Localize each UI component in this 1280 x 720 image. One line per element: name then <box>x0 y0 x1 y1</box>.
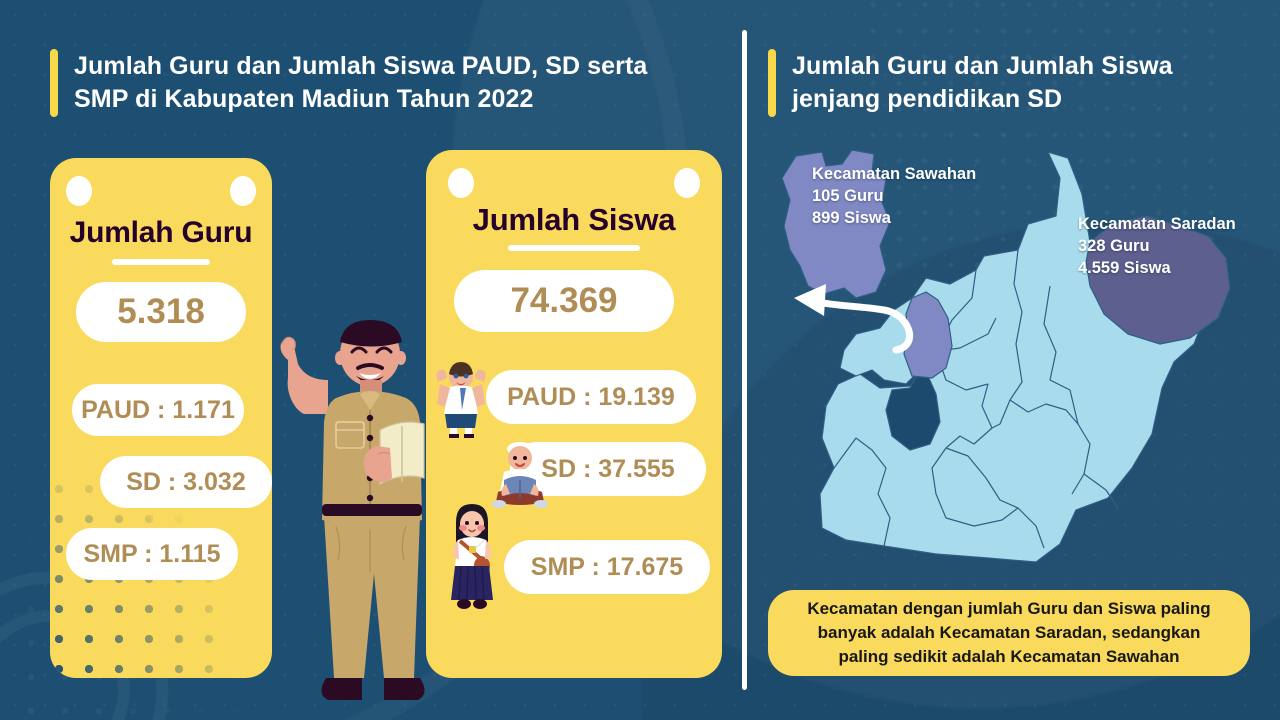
card-title-jumlah-guru: Jumlah Guru <box>50 216 272 250</box>
summary-caption-box: Kecamatan dengan jumlah Guru dan Siswa p… <box>768 590 1250 676</box>
guru-paud-pill: PAUD : 1.171 <box>72 384 244 436</box>
guru-sd-pill: SD : 3.032 <box>100 456 272 508</box>
heading-accent-bar <box>768 49 776 117</box>
siswa-paud-pill: PAUD : 19.139 <box>486 370 696 424</box>
card-punch-hole-right <box>230 176 256 206</box>
right-heading-text: Jumlah Guru dan Jumlah Siswa jenjang pen… <box>792 49 1173 117</box>
left-heading-text: Jumlah Guru dan Jumlah Siswa PAUD, SD se… <box>74 49 647 117</box>
guru-smp-value: SMP : 1.115 <box>83 540 220 569</box>
guru-paud-value: PAUD : 1.171 <box>81 396 235 425</box>
card-title-jumlah-siswa: Jumlah Siswa <box>426 202 722 238</box>
student-reading-illustration <box>486 440 554 512</box>
panel-divider <box>742 30 747 690</box>
card-punch-hole-left <box>448 168 474 198</box>
siswa-smp-pill: SMP : 17.675 <box>504 540 710 594</box>
guru-total-value: 5.318 <box>117 292 205 332</box>
card-punch-hole-left <box>66 176 92 206</box>
card-punch-hole-right <box>674 168 700 198</box>
student-girl-illustration <box>444 504 500 612</box>
stat-card-jumlah-guru: Jumlah Guru 5.318 PAUD : 1.171 SD : 3.03… <box>50 158 272 678</box>
siswa-smp-value: SMP : 17.675 <box>531 553 683 582</box>
siswa-total-pill: 74.369 <box>454 270 674 332</box>
guru-sd-value: SD : 3.032 <box>126 468 246 497</box>
map-label-kecamatan-saradan: Kecamatan Saradan 328 Guru 4.559 Siswa <box>1078 214 1236 280</box>
siswa-paud-value: PAUD : 19.139 <box>507 383 675 412</box>
right-panel-heading: Jumlah Guru dan Jumlah Siswa jenjang pen… <box>768 49 1173 117</box>
guru-total-pill: 5.318 <box>76 282 246 342</box>
map-label-kecamatan-sawahan: Kecamatan Sawahan 105 Guru 899 Siswa <box>812 164 976 230</box>
summary-caption-text: Kecamatan dengan jumlah Guru dan Siswa p… <box>807 597 1210 669</box>
heading-accent-bar <box>50 49 58 117</box>
siswa-sd-value: SD : 37.555 <box>541 455 674 484</box>
card-title-underline <box>112 259 210 265</box>
map-kabupaten-madiun[interactable]: Kecamatan Sawahan 105 Guru 899 Siswa Kec… <box>760 138 1260 580</box>
siswa-total-value: 74.369 <box>510 281 617 321</box>
student-cheering-illustration <box>430 360 492 438</box>
guru-smp-pill: SMP : 1.115 <box>66 528 238 580</box>
left-panel-heading: Jumlah Guru dan Jumlah Siswa PAUD, SD se… <box>50 49 647 117</box>
card-title-underline <box>508 245 640 251</box>
